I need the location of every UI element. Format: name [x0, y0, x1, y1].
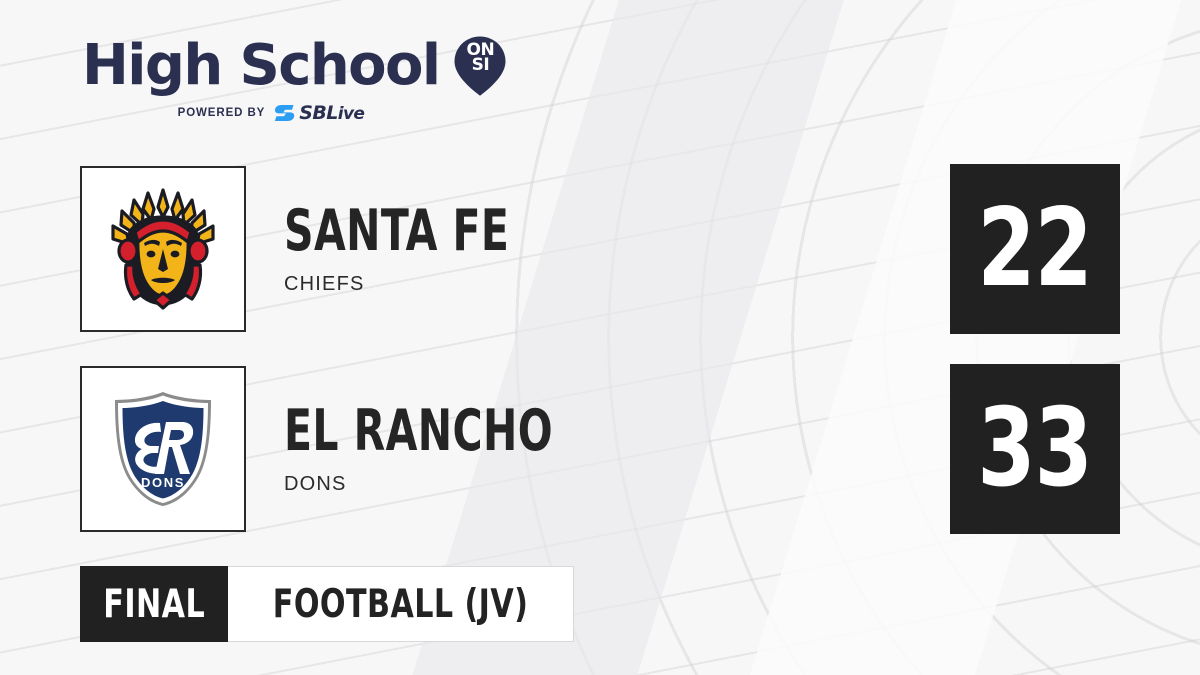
brand-wordmark: High School [82, 38, 439, 94]
scorecard: High School ON SI POWERED BY [0, 0, 1200, 675]
sport-label: FOOTBALL (JV) [273, 582, 529, 627]
team-logo-tile: DONS [80, 366, 246, 532]
team-mascot: DONS [284, 473, 950, 496]
sport-label-box: FOOTBALL (JV) [228, 566, 574, 642]
sblive-wordmark: SBLive [299, 104, 364, 123]
team-logo-tile [80, 166, 246, 332]
on-si-pin-icon: ON SI [449, 35, 511, 97]
team-identity: SANTA FE CHIEFS [284, 203, 950, 296]
team-name: EL RANCHO [284, 403, 817, 460]
game-status-label: FINAL [103, 582, 205, 627]
pin-line-si: SI [449, 58, 511, 73]
sblive-bold: SBL [299, 102, 337, 124]
powered-by-label: POWERED BY [178, 107, 266, 119]
game-status-badge: FINAL [80, 566, 228, 642]
team-row: DONS EL RANCHO DONS 33 [80, 364, 1120, 534]
team-name: SANTA FE [284, 203, 817, 260]
chief-head-logo-icon [104, 187, 222, 311]
on-si-pin-text: ON SI [449, 43, 511, 73]
team-identity: EL RANCHO DONS [284, 403, 950, 496]
team-row: SANTA FE CHIEFS 22 [80, 164, 1120, 334]
sblive-light: ive [338, 104, 365, 124]
svg-text:DONS: DONS [141, 475, 185, 490]
team-score-box: 33 [950, 364, 1120, 534]
team-mascot: CHIEFS [284, 273, 950, 296]
team-score: 33 [978, 395, 1093, 503]
sblive-mark-icon: SBLive [274, 104, 364, 123]
er-shield-logo-icon: DONS [108, 389, 218, 509]
team-score-box: 22 [950, 164, 1120, 334]
status-bar: FINAL FOOTBALL (JV) [80, 566, 574, 642]
team-score: 22 [978, 195, 1093, 303]
brand-lockup: High School ON SI [82, 34, 512, 98]
brand-header: High School ON SI POWERED BY [82, 34, 512, 122]
powered-by-lockup: POWERED BY SBLive [82, 104, 512, 122]
